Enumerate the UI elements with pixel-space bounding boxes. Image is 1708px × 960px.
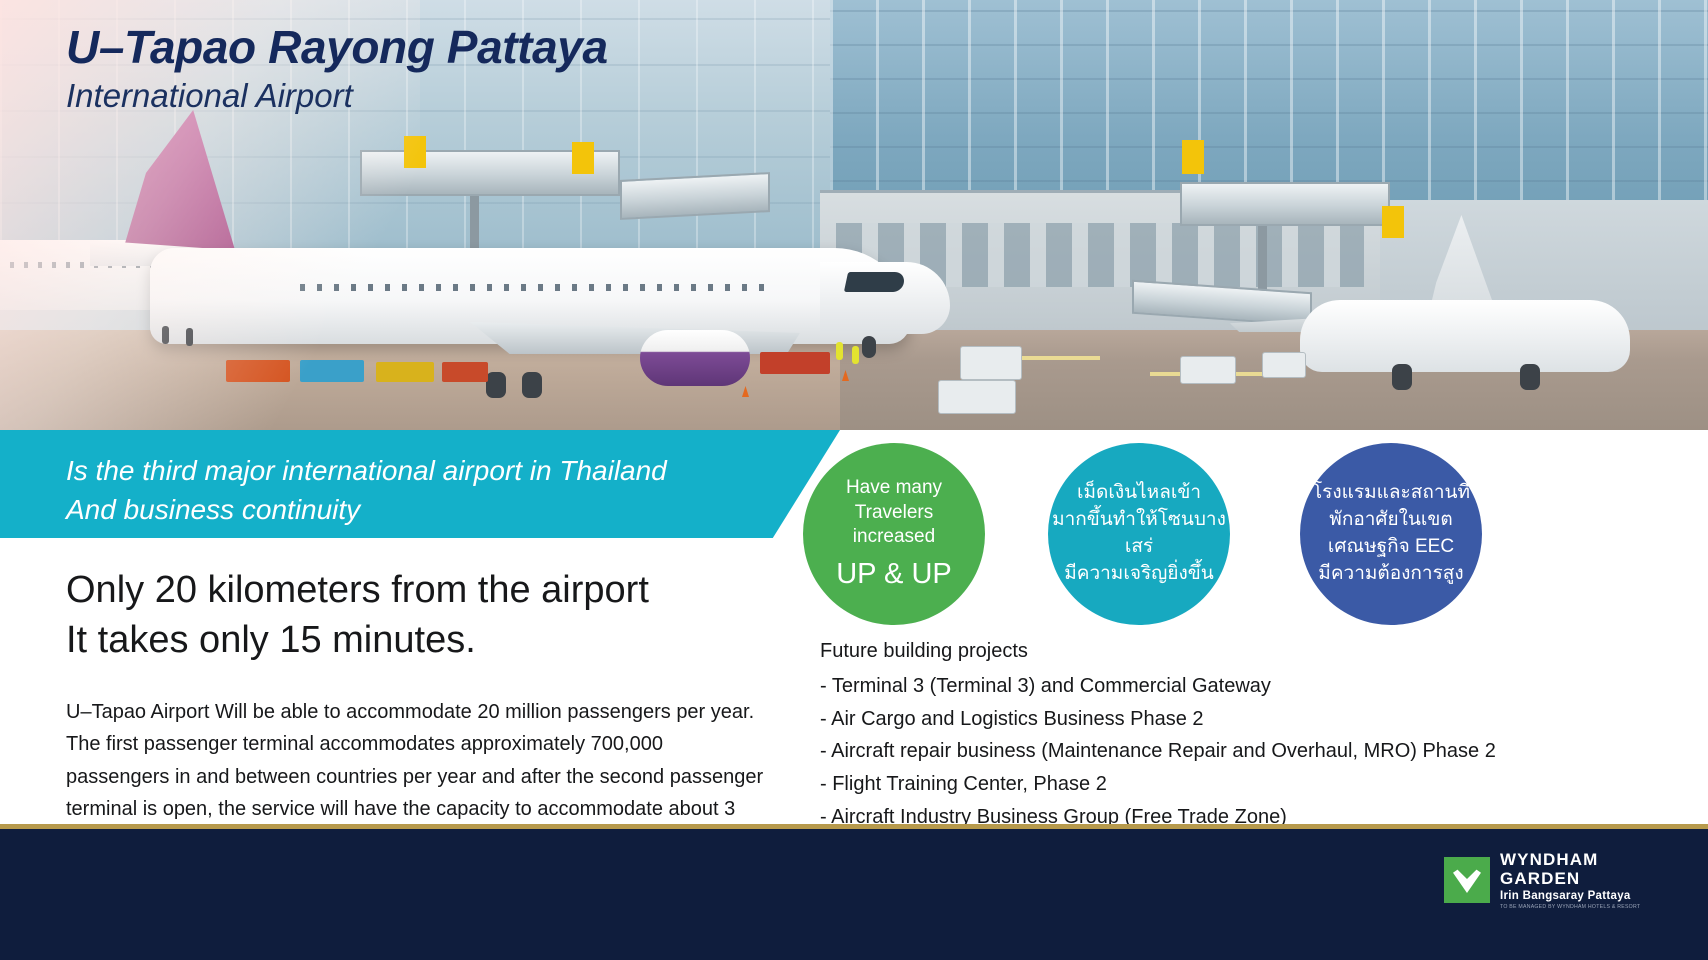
project-item: - Aircraft repair business (Maintenance … <box>820 735 1690 768</box>
banner-line-1: Is the third major international airport… <box>66 452 667 491</box>
logo-brand: WYNDHAM GARDEN <box>1500 850 1680 889</box>
jet-bridge-right <box>1180 182 1390 226</box>
circle-line: โรงแรมและสถานที่ <box>1312 480 1470 507</box>
title-subtitle: International Airport <box>66 76 608 116</box>
jet-bridge-mid <box>620 172 770 220</box>
aircraft-landing-gear <box>522 372 542 398</box>
future-projects-list: Future building projects - Terminal 3 (T… <box>820 635 1690 834</box>
poster-title: U–Tapao Rayong Pattaya International Air… <box>66 22 608 115</box>
baggage-cart <box>442 362 488 382</box>
aircraft-right-body <box>1300 300 1630 372</box>
title-main: U–Tapao Rayong Pattaya <box>66 22 608 74</box>
project-item: - Air Cargo and Logistics Business Phase… <box>820 703 1690 736</box>
aircraft-landing-gear <box>862 336 876 358</box>
project-item: - Terminal 3 (Terminal 3) and Commercial… <box>820 670 1690 703</box>
baggage-cart <box>760 352 830 374</box>
circle-line: มีความต้องการสูง <box>1318 561 1463 588</box>
circle-investment: เม็ดเงินไหลเข้า มากขึ้นทำให้โซนบางเสร่ ม… <box>1048 443 1230 625</box>
ground-vehicle <box>1180 356 1236 384</box>
circle-line: เม็ดเงินไหลเข้า <box>1077 480 1201 507</box>
logo-tagline: TO BE MANAGED BY WYNDHAM HOTELS & RESORT <box>1500 904 1680 911</box>
banner-line-2: And business continuity <box>66 491 667 530</box>
bridge-fixture <box>1182 140 1204 174</box>
wyndham-garden-logo: WYNDHAM GARDEN Irin Bangsaray Pattaya TO… <box>1444 850 1680 910</box>
headline-line-1: Only 20 kilometers from the airport <box>66 565 786 615</box>
headline: Only 20 kilometers from the airport It t… <box>66 565 786 665</box>
ground-crew <box>852 346 859 364</box>
circle-travelers: Have many Travelers increased UP & UP <box>803 443 985 625</box>
circle-line: Have many <box>846 476 942 501</box>
ground-vehicle <box>1262 352 1306 378</box>
project-item: - Flight Training Center, Phase 2 <box>820 768 1690 801</box>
circle-line: มีความเจริญยิ่งขึ้น <box>1064 561 1214 588</box>
aircraft-landing-gear <box>1392 364 1412 390</box>
circle-line: Travelers <box>855 501 933 526</box>
circle-hotel-demand: โรงแรมและสถานที่ พักอาศัยในเขต เศณษฐกิจ … <box>1300 443 1482 625</box>
ground-vehicle <box>960 346 1022 380</box>
logo-text-block: WYNDHAM GARDEN Irin Bangsaray Pattaya TO… <box>1500 850 1680 911</box>
projects-title: Future building projects <box>820 635 1690 668</box>
banner-text: Is the third major international airport… <box>66 452 667 529</box>
aircraft-landing-gear <box>1520 364 1540 390</box>
wyndham-leaf-icon <box>1444 857 1490 903</box>
aircraft-cockpit-window <box>844 272 906 292</box>
circle-emphasis: UP & UP <box>836 556 952 592</box>
logo-property: Irin Bangsaray Pattaya <box>1500 889 1680 904</box>
circle-line: พักอาศัยในเขต <box>1329 507 1452 534</box>
infographic-poster: U–Tapao Rayong Pattaya International Air… <box>0 0 1708 960</box>
aircraft-landing-gear <box>486 372 506 398</box>
headline-line-2: It takes only 15 minutes. <box>66 615 786 665</box>
circle-line: มากขึ้นทำให้โซนบางเสร่ <box>1048 507 1230 561</box>
ground-vehicle <box>938 380 1016 414</box>
circle-line: เศณษฐกิจ EEC <box>1328 534 1454 561</box>
bridge-fixture <box>572 142 594 174</box>
circle-line: increased <box>853 525 935 550</box>
aircraft-engine <box>640 330 750 386</box>
bridge-fixture <box>1382 206 1404 238</box>
ground-crew <box>836 342 843 360</box>
leaf-glyph <box>1453 867 1481 893</box>
